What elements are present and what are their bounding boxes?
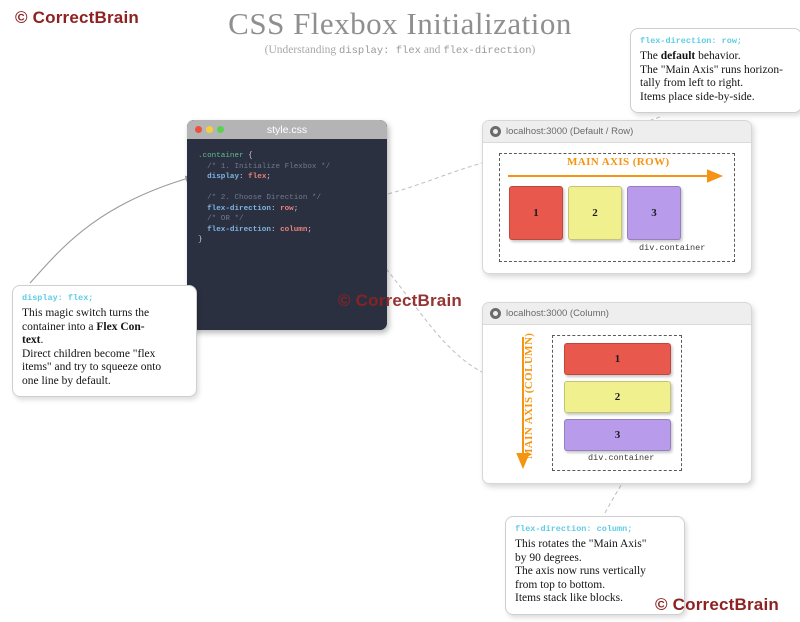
code-value-row: row (280, 205, 294, 213)
flex-item-row-3: 3 (627, 186, 681, 240)
callout-display-line3c: . (41, 334, 44, 346)
container-caption-row: div.container (639, 243, 705, 253)
browser-window-column[interactable]: localhost:3000 (Column) MAIN AXIS (COLUM… (482, 302, 752, 484)
subtitle-code-display-flex: display: flex (339, 45, 421, 57)
flex-item-label: 2 (592, 207, 598, 219)
container-caption-column: div.container (588, 453, 654, 463)
callout-display-line4: Direct children become "flex (22, 348, 155, 360)
callout-row-body: The default behavior. The "Main Axis" ru… (640, 50, 792, 104)
code-value-flex: flex (248, 173, 266, 181)
code-prop-flexdir-col: flex-direction (207, 226, 271, 234)
callout-row-line1a: The (640, 50, 661, 62)
code-semi-3: ; (307, 226, 312, 234)
callout-row-line1c: behavior. (695, 50, 740, 62)
globe-icon (490, 126, 501, 137)
callout-display-line1: This magic switch turns the (22, 307, 149, 319)
callout-display-line3b: text (22, 334, 41, 346)
callout-column-line4: from top to bottom. (515, 579, 605, 591)
flex-item-label: 2 (615, 391, 621, 403)
subtitle-code-flex-direction: flex-direction (443, 45, 531, 57)
code-prop-flexdir-row: flex-direction (207, 205, 271, 213)
callout-row-line2: The "Main Axis" runs horizon- (640, 64, 783, 76)
callout-display-heading: display: flex; (22, 293, 187, 303)
browser-viewport-row: MAIN AXIS (ROW) 1 2 3 div.container (483, 143, 751, 273)
code-prop-display: display (207, 173, 239, 181)
callout-column-line2: by 90 degrees. (515, 552, 582, 564)
callout-display-line2a: container into a (22, 321, 96, 333)
browser-address-bar-column[interactable]: localhost:3000 (Column) (483, 303, 751, 325)
flex-item-row-1: 1 (509, 186, 563, 240)
code-selector: .container (198, 152, 244, 160)
callout-display-line5: items" and try to squeeze onto (22, 361, 161, 373)
code-semi-2: ; (294, 205, 299, 213)
flex-item-label: 3 (615, 429, 621, 441)
code-colon-1: : (239, 173, 248, 181)
watermark-middle: © CorrectBrain (338, 291, 462, 311)
code-open-brace: { (244, 152, 253, 160)
flex-item-label: 3 (651, 207, 657, 219)
flex-item-row-2: 2 (568, 186, 622, 240)
callout-row-line3: tally from left to right. (640, 77, 743, 89)
code-close-brace: } (198, 236, 203, 244)
flex-item-column-2: 2 (564, 381, 671, 413)
callout-display-flex: display: flex; This magic switch turns t… (12, 285, 197, 397)
editor-filename: style.css (187, 124, 387, 136)
css-code-block[interactable]: .container { /* 1. Initialize Flexbox */… (187, 139, 387, 246)
callout-row-line1b: default (661, 50, 696, 62)
subtitle-open: (Understanding (265, 44, 339, 56)
connector-display-callout (30, 177, 192, 283)
callout-display-line2b: Flex Con- (96, 321, 144, 333)
callout-row-line4: Items place side-by-side. (640, 91, 755, 103)
globe-icon (490, 308, 501, 319)
flex-item-label: 1 (533, 207, 539, 219)
callout-column-body: This rotates the "Main Axis" by 90 degre… (515, 538, 675, 606)
subtitle-and: and (421, 44, 443, 56)
subtitle-close: ) (532, 44, 536, 56)
code-comment-or: /* OR */ (207, 215, 243, 223)
callout-column-line5: Items stack like blocks. (515, 592, 623, 604)
browser-viewport-column: MAIN AXIS (COLUMN) 1 2 3 div.container (483, 325, 751, 483)
flex-item-label: 1 (615, 353, 621, 365)
code-colon-2: : (271, 205, 280, 213)
callout-column-line3: The axis now runs vertically (515, 565, 646, 577)
editor-title-bar[interactable]: style.css (187, 120, 387, 139)
code-comment-1: /* 1. Initialize Flexbox */ (207, 163, 330, 171)
callout-display-body: This magic switch turns the container in… (22, 307, 187, 388)
code-value-column: column (280, 226, 307, 234)
browser-window-row[interactable]: localhost:3000 (Default / Row) MAIN AXIS… (482, 120, 752, 274)
code-comment-2: /* 2. Choose Direction */ (207, 194, 321, 202)
diagram-canvas: CSS Flexbox Initialization (Understandin… (0, 0, 800, 622)
browser-address-bar-row[interactable]: localhost:3000 (Default / Row) (483, 121, 751, 143)
callout-flex-direction-row: flex-direction: row; The default behavio… (630, 28, 800, 113)
browser-url-column: localhost:3000 (Column) (506, 308, 609, 319)
flex-item-column-1: 1 (564, 343, 671, 375)
connector-column-callout (605, 479, 625, 513)
code-semi-1: ; (266, 173, 271, 181)
callout-column-heading: flex-direction: column; (515, 524, 675, 534)
watermark-top-left: © CorrectBrain (15, 8, 139, 28)
code-colon-3: : (271, 226, 280, 234)
callout-display-line6: one line by default. (22, 375, 111, 387)
callout-column-line1: This rotates the "Main Axis" (515, 538, 646, 550)
browser-url-row: localhost:3000 (Default / Row) (506, 126, 633, 137)
watermark-bottom-right: © CorrectBrain (655, 595, 779, 615)
callout-row-heading: flex-direction: row; (640, 36, 792, 46)
flex-item-column-3: 3 (564, 419, 671, 451)
